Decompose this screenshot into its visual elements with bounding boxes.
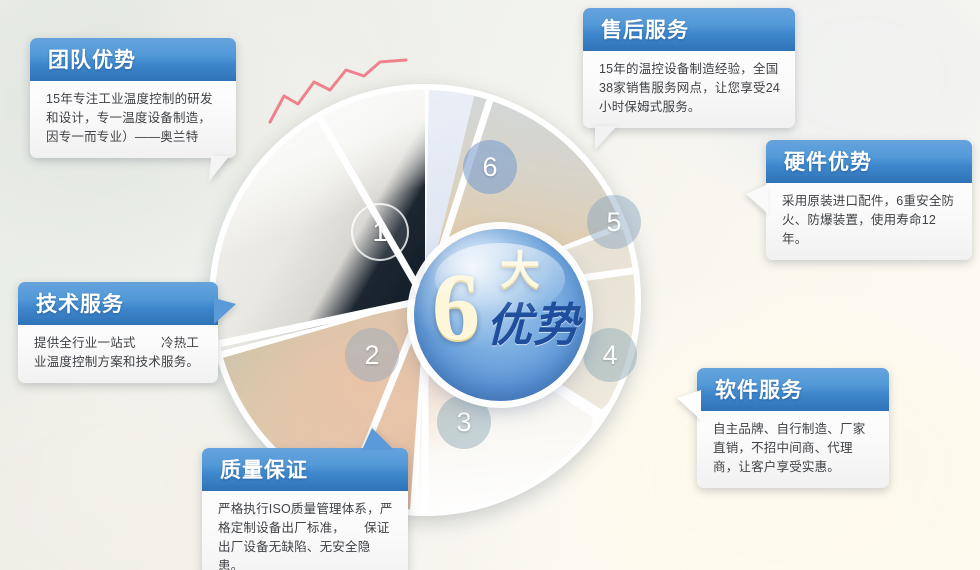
- callout-pointer: [214, 298, 236, 324]
- callout-quality-assurance[interactable]: 质量保证 严格执行ISO质量管理体系，严格定制设备出厂标准， 保证出厂设备无缺陷…: [202, 448, 408, 570]
- wheel-number-5[interactable]: 5: [587, 195, 641, 249]
- wheel-number-3[interactable]: 3: [437, 395, 491, 449]
- callout-body: 15年专注工业温度控制的研发和设计，专一温度设备制造，因专一而专业）——奥兰特: [30, 81, 236, 158]
- center-badge-unit: 大: [500, 251, 540, 291]
- callout-title: 软件服务: [697, 368, 889, 411]
- callout-team-advantage[interactable]: 团队优势 15年专注工业温度控制的研发和设计，专一温度设备制造，因专一而专业）—…: [30, 38, 236, 158]
- callout-body: 采用原装进口配件，6重安全防火、防爆装置，使用寿命12年。: [766, 183, 972, 260]
- wheel-number-2[interactable]: 2: [345, 328, 399, 382]
- callout-hardware-advantage[interactable]: 硬件优势 采用原装进口配件，6重安全防火、防爆装置，使用寿命12年。: [766, 140, 972, 260]
- callout-title: 技术服务: [18, 282, 218, 325]
- wheel-number-6[interactable]: 6: [463, 140, 517, 194]
- callout-body: 自主品牌、自行制造、厂家直销，不招中间商、代理商，让客户享受实惠。: [697, 411, 889, 488]
- callout-pointer: [362, 428, 394, 450]
- center-badge[interactable]: 6 大 优势: [414, 229, 586, 401]
- center-badge-number: 6: [432, 259, 480, 355]
- callout-software-service[interactable]: 软件服务 自主品牌、自行制造、厂家直销，不招中间商、代理商，让客户享受实惠。: [697, 368, 889, 488]
- callout-body: 15年的温控设备制造经验，全国38家销售服务网点，让您享受24小时保姆式服务。: [583, 51, 795, 128]
- callout-pointer: [677, 390, 701, 420]
- callout-title: 质量保证: [202, 448, 408, 491]
- callout-after-sales-service[interactable]: 售后服务 15年的温控设备制造经验，全国38家销售服务网点，让您享受24小时保姆…: [583, 8, 795, 128]
- callout-title: 售后服务: [583, 8, 795, 51]
- wheel-number-1[interactable]: 1: [351, 203, 409, 261]
- wheel-number-4[interactable]: 4: [583, 328, 637, 382]
- callout-technical-service[interactable]: 技术服务 提供全行业一站式 冷热工业温度控制方案和技术服务。: [18, 282, 218, 383]
- callout-pointer: [746, 184, 768, 214]
- callout-title: 团队优势: [30, 38, 236, 81]
- callout-pointer: [595, 126, 617, 150]
- callout-title: 硬件优势: [766, 140, 972, 183]
- center-badge-label: 优势: [486, 301, 580, 349]
- callout-body: 提供全行业一站式 冷热工业温度控制方案和技术服务。: [18, 325, 218, 383]
- callout-pointer: [209, 156, 240, 182]
- infographic-canvas: 1 2 3 4 5 6 6 大 优势 团队优势 15年专注工业温度控制的研发和设…: [0, 0, 980, 570]
- callout-body: 严格执行ISO质量管理体系，严格定制设备出厂标准， 保证出厂设备无缺陷、无安全隐…: [202, 491, 408, 570]
